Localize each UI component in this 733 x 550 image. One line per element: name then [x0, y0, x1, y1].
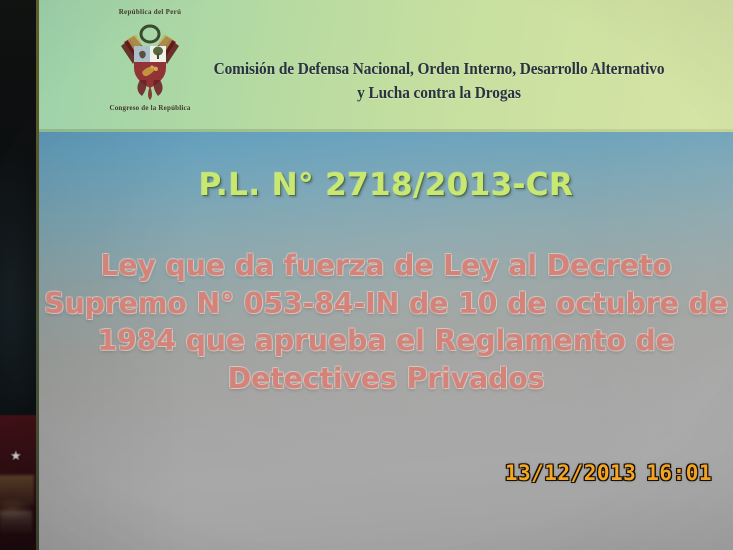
slide-header-band: República del Perú [39, 0, 733, 132]
bill-description: Ley que da fuerza de Ley al Decreto Supr… [39, 247, 733, 397]
bill-description-line-2: Supremo N° 053-84-IN de 10 de octubre de [39, 285, 733, 323]
slide-body: P.L. N° 2718/2013-CR Ley que da fuerza d… [39, 132, 733, 550]
banner-stripe-lower [0, 511, 32, 533]
banner-stripe-upper [0, 475, 34, 505]
projected-slide-photo: ★ República del Perú [0, 0, 733, 550]
timestamp-date: 13/12/2013 [505, 461, 636, 485]
emblem-arc-text: República del Perú [101, 8, 199, 16]
timestamp-time: 16:01 [646, 461, 712, 485]
bill-description-line-1: Ley que da fuerza de Ley al Decreto [39, 247, 733, 285]
bill-number-heading: P.L. N° 2718/2013-CR [39, 167, 733, 203]
camera-timestamp: 13/12/201316:01 [505, 461, 712, 485]
wall-banner-emblem: ★ [0, 415, 38, 550]
bill-description-line-4: Detectives Privados [39, 360, 733, 398]
commission-title-line-2: y Lucha contra la Drogas [179, 82, 700, 103]
emblem-caption: Congreso de la República [101, 104, 199, 112]
commission-title-line-1: Comisión de Defensa Nacional, Orden Inte… [179, 58, 700, 79]
bill-description-line-3: 1984 que aprueba el Reglamento de [39, 322, 733, 360]
screen-edge-bevel [36, 0, 39, 550]
commission-title: Comisión de Defensa Nacional, Orden Inte… [159, 58, 719, 103]
star-icon: ★ [10, 449, 22, 462]
